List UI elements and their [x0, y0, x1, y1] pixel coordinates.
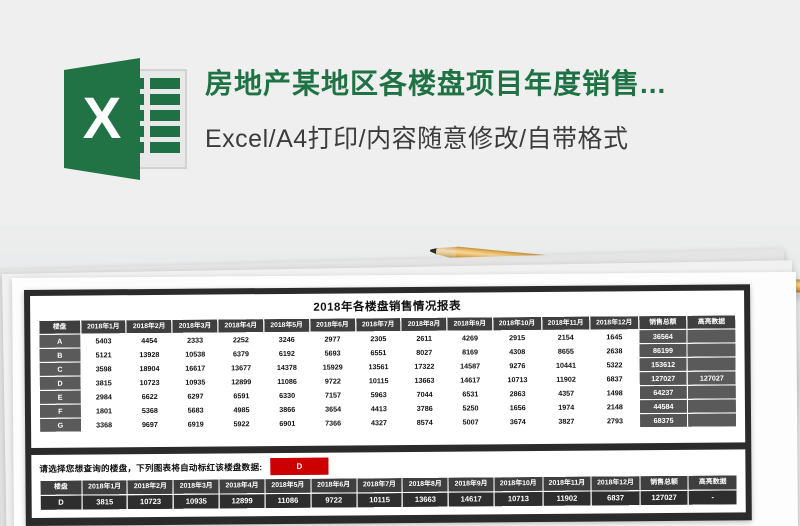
cell-month-1: 3815	[81, 376, 127, 390]
cell-highlight	[688, 399, 737, 413]
col-header-m2: 2018年2月	[126, 319, 172, 333]
cell-month-8: 17322	[401, 359, 447, 373]
row-header-estate: G	[40, 418, 82, 432]
cell-month-8: 3786	[402, 401, 448, 415]
col-header-m1: 2018年1月	[80, 320, 126, 334]
cell-month-8: 8027	[401, 345, 447, 359]
sales-table-body: A540344542333225232462977230526114269291…	[39, 329, 737, 432]
cell-month-9: 4269	[447, 331, 493, 345]
col-header-highlight: 高亮数据	[687, 315, 736, 329]
cell-total: 36564	[639, 329, 688, 343]
cell-total: 86199	[639, 343, 688, 357]
query-cell-month-3: 10935	[173, 494, 219, 509]
qcol-header-m4: 2018年4月	[219, 479, 265, 494]
col-header-m11: 2018年11月	[541, 316, 590, 330]
cell-month-10: 2915	[493, 330, 542, 344]
cell-month-4: 6591	[218, 389, 264, 403]
cell-month-5: 6192	[264, 346, 310, 360]
cell-highlight	[687, 343, 736, 357]
cell-month-8: 2611	[401, 331, 447, 345]
query-cell-month-8: 13663	[402, 492, 448, 507]
query-panel: 请选择您想查询的楼盘，下列图表将自动标红该楼盘数据: D 楼盘 2018年1月 …	[31, 449, 745, 518]
cell-month-11: 2154	[541, 330, 590, 344]
qcol-header-m12: 2018年12月	[591, 476, 640, 491]
cell-month-6: 9722	[310, 374, 356, 388]
query-cell-month-2: 10723	[128, 494, 174, 509]
cell-month-11: 8655	[541, 344, 590, 358]
cell-month-10: 2863	[493, 386, 542, 400]
page-title: 房地产某地区各楼盘项目年度销售...	[205, 62, 795, 106]
row-header-estate: C	[39, 362, 81, 376]
estate-selector-dropdown[interactable]: D	[270, 458, 328, 475]
cell-highlight: 127027	[687, 371, 736, 385]
query-row: 请选择您想查询的楼盘，下列图表将自动标红该楼盘数据: D	[39, 454, 737, 476]
cell-month-12: 5322	[590, 358, 639, 372]
cell-month-10: 9276	[493, 358, 542, 372]
sales-table: 楼盘 2018年1月 2018年2月 2018年3月 2018年4月 2018年…	[38, 314, 737, 432]
cell-month-1: 5121	[81, 348, 127, 362]
qcol-header-m5: 2018年5月	[265, 478, 311, 493]
cell-month-12: 6837	[590, 372, 639, 386]
cell-month-5: 3866	[264, 402, 310, 416]
col-header-m10: 2018年10月	[493, 316, 542, 330]
qcol-header-m10: 2018年10月	[494, 476, 543, 491]
cell-month-9: 14587	[447, 359, 493, 373]
cell-month-2: 6622	[127, 389, 173, 403]
cell-month-9: 5250	[448, 401, 494, 415]
cell-month-5: 11086	[264, 374, 310, 388]
cell-month-4: 6379	[218, 347, 264, 361]
cell-month-5: 3246	[264, 332, 310, 346]
cell-month-6: 7366	[310, 416, 356, 430]
cell-month-4: 13677	[218, 361, 264, 375]
cell-month-6: 2977	[310, 332, 356, 346]
qcol-header-m6: 2018年6月	[311, 478, 357, 493]
cell-month-7: 4413	[356, 402, 402, 416]
qcol-header-estate: 楼盘	[40, 480, 82, 495]
col-header-m7: 2018年7月	[355, 318, 401, 332]
cell-total: 153612	[639, 357, 688, 371]
cell-month-10: 1656	[493, 400, 542, 414]
report-title: 2018年各楼盘销售情况报表	[38, 297, 736, 316]
cell-month-12: 2793	[591, 414, 640, 428]
query-result-table: 楼盘 2018年1月 2018年2月 2018年3月 2018年4月 2018年…	[39, 474, 737, 510]
cell-month-10: 3674	[493, 414, 542, 428]
cell-month-7: 2305	[355, 332, 401, 346]
query-cell-month-4: 12899	[219, 494, 265, 509]
cell-month-10: 10713	[493, 372, 542, 386]
cell-month-1: 5403	[80, 334, 126, 348]
cell-month-2: 18904	[127, 361, 173, 375]
query-cell-month-6: 9722	[311, 493, 357, 508]
cell-month-5: 6901	[264, 416, 310, 430]
cell-month-12: 1645	[590, 330, 639, 344]
cell-month-11: 11902	[542, 372, 591, 386]
cell-month-3: 10538	[172, 347, 218, 361]
cell-month-8: 7044	[402, 387, 448, 401]
spreadsheet-preview: 2018年各楼盘销售情况报表 楼盘 2018年1月 2018年2月 2018年3…	[24, 284, 752, 526]
cell-month-9: 5007	[448, 415, 494, 429]
cell-month-3: 5683	[173, 403, 219, 417]
cell-month-7: 13561	[356, 360, 402, 374]
title-block: 房地产某地区各楼盘项目年度销售... Excel/A4打印/内容随意修改/自带格…	[205, 62, 795, 156]
cell-month-6: 5693	[310, 346, 356, 360]
qcol-header-m11: 2018年11月	[543, 476, 592, 491]
col-header-m5: 2018年5月	[264, 318, 310, 332]
cell-highlight	[688, 413, 737, 427]
report-panel: 2018年各楼盘销售情况报表 楼盘 2018年1月 2018年2月 2018年3…	[30, 290, 745, 448]
cell-month-3: 16617	[172, 361, 218, 375]
cell-month-6: 7157	[310, 388, 356, 402]
cell-month-5: 14378	[264, 360, 310, 374]
cell-month-12: 2638	[590, 344, 639, 358]
query-cell-month-11: 11902	[543, 491, 592, 506]
cell-month-1: 3598	[81, 362, 127, 376]
excel-logo: X	[62, 56, 194, 182]
cell-highlight	[688, 385, 737, 399]
cell-month-2: 13928	[126, 347, 172, 361]
cell-highlight	[687, 357, 736, 371]
query-cell-month-5: 11086	[265, 493, 311, 508]
cell-total: 68375	[639, 413, 688, 427]
qcol-header-m2: 2018年2月	[127, 479, 173, 494]
page-subtitle: Excel/A4打印/内容随意修改/自带格式	[205, 122, 795, 156]
col-header-m9: 2018年9月	[447, 317, 493, 331]
col-header-m4: 2018年4月	[218, 319, 264, 333]
cell-month-11: 4357	[542, 386, 591, 400]
cell-month-4: 12899	[218, 375, 264, 389]
qcol-header-m1: 2018年1月	[82, 480, 128, 495]
cell-month-6: 3654	[310, 402, 356, 416]
cell-month-11: 3827	[542, 414, 591, 428]
cell-month-2: 10723	[127, 375, 173, 389]
query-cell-month-10: 10713	[494, 491, 543, 506]
query-cell-month-7: 10115	[357, 493, 403, 508]
cell-month-4: 5922	[219, 417, 265, 431]
col-header-total: 销售总额	[638, 315, 687, 329]
cell-month-7: 5963	[356, 388, 402, 402]
qcol-header-total: 销售总额	[640, 475, 689, 490]
cell-total: 64237	[639, 385, 688, 399]
row-header-estate: D	[39, 376, 81, 390]
query-cell-estate: D	[40, 495, 82, 510]
cell-month-1: 2984	[81, 390, 127, 404]
col-header-m12: 2018年12月	[590, 316, 639, 330]
cell-total: 127027	[639, 371, 688, 385]
row-header-estate: B	[39, 348, 81, 362]
cell-highlight	[687, 329, 736, 343]
query-cell-month-12: 6837	[591, 491, 640, 506]
cell-month-3: 6919	[173, 417, 219, 431]
cell-month-3: 6297	[173, 389, 219, 403]
cell-month-1: 1801	[81, 404, 127, 418]
col-header-m6: 2018年6月	[309, 318, 355, 332]
query-cell-highlight: -	[688, 490, 737, 505]
row-header-estate: A	[39, 334, 81, 348]
qcol-header-m3: 2018年3月	[173, 479, 219, 494]
qcol-header-m8: 2018年8月	[402, 477, 448, 492]
col-header-estate: 楼盘	[39, 320, 81, 334]
query-cell-month-9: 14617	[448, 492, 494, 507]
row-header-estate: F	[39, 404, 81, 418]
query-instruction: 请选择您想查询的楼盘，下列图表将自动标红该楼盘数据:	[39, 461, 262, 475]
cell-month-2: 5368	[127, 403, 173, 417]
col-header-m8: 2018年8月	[401, 317, 447, 331]
cell-month-12: 2148	[591, 400, 640, 414]
query-cell-total: 127027	[640, 490, 689, 505]
svg-text:X: X	[83, 86, 122, 151]
cell-month-9: 14617	[447, 373, 493, 387]
cell-month-4: 2252	[218, 333, 264, 347]
cell-month-11: 10441	[542, 358, 591, 372]
cell-total: 44584	[639, 399, 688, 413]
cell-month-10: 4308	[493, 344, 542, 358]
cell-month-8: 13663	[401, 373, 447, 387]
query-cell-month-1: 3815	[82, 495, 128, 510]
row-header-estate: E	[39, 390, 81, 404]
desk-photo: 2018年各楼盘销售情况报表 楼盘 2018年1月 2018年2月 2018年3…	[0, 226, 800, 526]
cell-month-9: 6531	[447, 387, 493, 401]
cell-month-9: 8169	[447, 345, 493, 359]
cell-month-2: 4454	[126, 333, 172, 347]
col-header-m3: 2018年3月	[172, 319, 218, 333]
cell-month-7: 4327	[356, 416, 402, 430]
cell-month-5: 6330	[264, 388, 310, 402]
qcol-header-m7: 2018年7月	[357, 478, 403, 493]
cell-month-7: 6551	[355, 346, 401, 360]
cell-month-2: 9697	[127, 417, 173, 431]
cell-month-6: 15929	[310, 360, 356, 374]
qcol-header-highlight: 高亮数据	[688, 475, 737, 490]
cell-month-7: 10115	[356, 374, 402, 388]
cell-month-4: 4985	[218, 403, 264, 417]
promo-header: X 房地产某地区各楼盘项目年度销售... Excel/A4打印/内容随意修改/自…	[0, 0, 800, 226]
cell-month-1: 3368	[81, 418, 127, 432]
qcol-header-m9: 2018年9月	[448, 477, 494, 492]
cell-month-12: 1498	[590, 386, 639, 400]
cell-month-3: 10935	[172, 375, 218, 389]
cell-month-11: 1974	[542, 400, 591, 414]
cell-month-8: 8574	[402, 415, 448, 429]
cell-month-3: 2333	[172, 333, 218, 347]
